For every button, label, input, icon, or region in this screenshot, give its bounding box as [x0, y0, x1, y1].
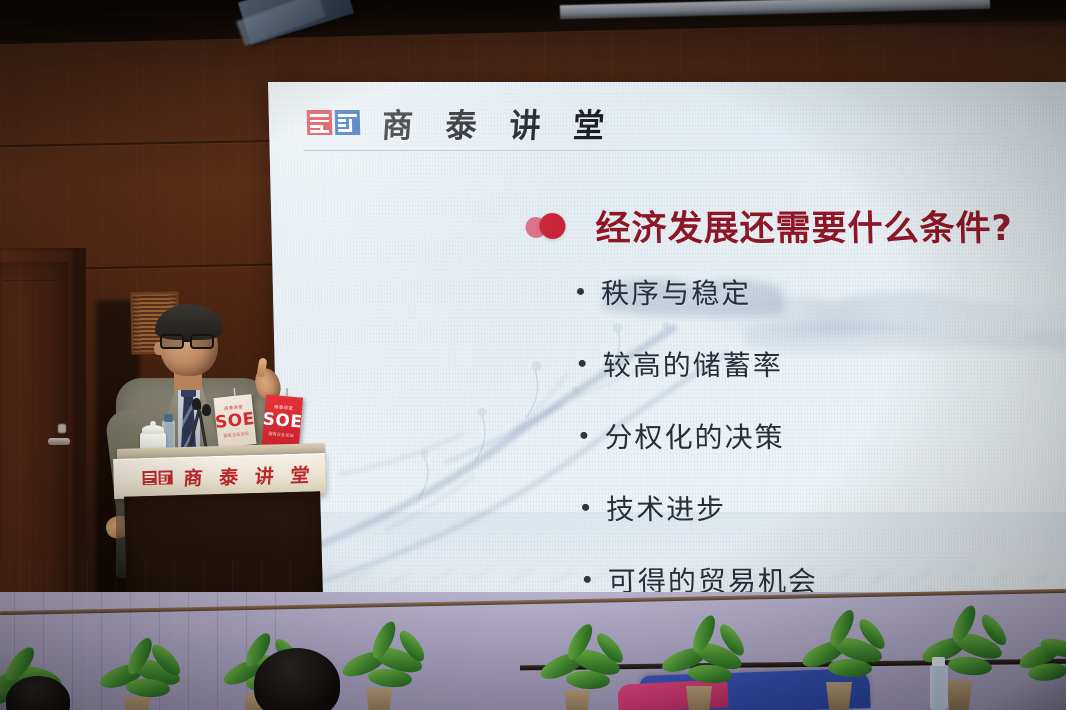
title-dot-red	[539, 212, 566, 238]
lecture-hall-photo: 商 泰 讲 堂 经济发展还需要什么条件? 秩序与稳定 较高的储蓄率 分权化的决	[0, 0, 1066, 710]
shangtai-logo-mark-red	[142, 470, 172, 485]
shangtai-logo-mark	[307, 110, 361, 135]
slide-brand-name: 商 泰 讲 堂	[380, 99, 617, 147]
slide-title-row: 经济发展还需要什么条件?	[525, 200, 1014, 251]
eyeglass-lens-left	[160, 334, 184, 349]
projection-screen: 商 泰 讲 堂 经济发展还需要什么条件? 秩序与稳定 较高的储蓄率 分权化的决	[268, 82, 1066, 602]
flag-sub-text: 国有企业论坛	[223, 430, 249, 439]
list-item: 较高的储蓄率	[578, 344, 1049, 384]
soe-flag-white: 商泰讲堂 SOE 国有企业论坛	[213, 394, 256, 448]
microphone	[202, 404, 211, 416]
flag-label: SOE	[262, 411, 303, 431]
slide-bullet-list: 秩序与稳定 较高的储蓄率 分权化的决策 技术进步 可得的贸易机会	[577, 272, 1056, 602]
bullet-dot-icon	[579, 360, 586, 367]
list-item-label: 较高的储蓄率	[602, 344, 783, 384]
eyeglass-bridge	[184, 340, 192, 342]
bullet-dot-icon	[580, 432, 587, 439]
logo-square-red	[307, 110, 333, 135]
bottle-cap	[932, 657, 945, 666]
bullet-dot-icon	[577, 288, 584, 295]
door-handle[interactable]	[48, 438, 70, 445]
flag-label: SOE	[214, 410, 255, 431]
list-item-label: 秩序与稳定	[601, 272, 752, 312]
soe-flag-red: 商泰讲堂 SOE 国有企业论坛	[262, 394, 303, 447]
potted-plant-row	[0, 600, 1066, 710]
list-item-label: 技术进步	[606, 488, 727, 528]
door-panel-line	[4, 280, 56, 281]
logo-square-red	[142, 471, 156, 485]
slide-header: 商 泰 讲 堂	[306, 100, 616, 145]
teacup-knob	[150, 421, 156, 426]
logo-square-blue	[335, 110, 361, 135]
flag-sub-text: 国有企业论坛	[268, 430, 294, 438]
bullet-dot-icon	[582, 504, 589, 511]
door-lock	[58, 424, 66, 433]
list-item: 秩序与稳定	[577, 272, 1048, 312]
microphone	[192, 398, 201, 410]
water-bottle	[930, 664, 948, 710]
title-bullet-dots	[525, 210, 574, 240]
eyeglass-lens-right	[190, 334, 214, 349]
list-item: 分权化的决策	[580, 416, 1051, 456]
teacup-lid	[142, 425, 164, 434]
list-item: 技术进步	[582, 488, 1053, 528]
podium-nameplate-text: 商 泰 讲 堂	[183, 460, 316, 491]
audience-head	[254, 648, 340, 710]
bottle-cap	[164, 414, 173, 422]
logo-square-red-2	[158, 470, 172, 484]
list-item-label: 分权化的决策	[604, 416, 785, 456]
page-title: 经济发展还需要什么条件?	[595, 200, 1014, 251]
eyeglasses	[160, 334, 220, 349]
bullet-dot-icon	[584, 576, 591, 583]
slide-header-divider	[304, 150, 944, 151]
